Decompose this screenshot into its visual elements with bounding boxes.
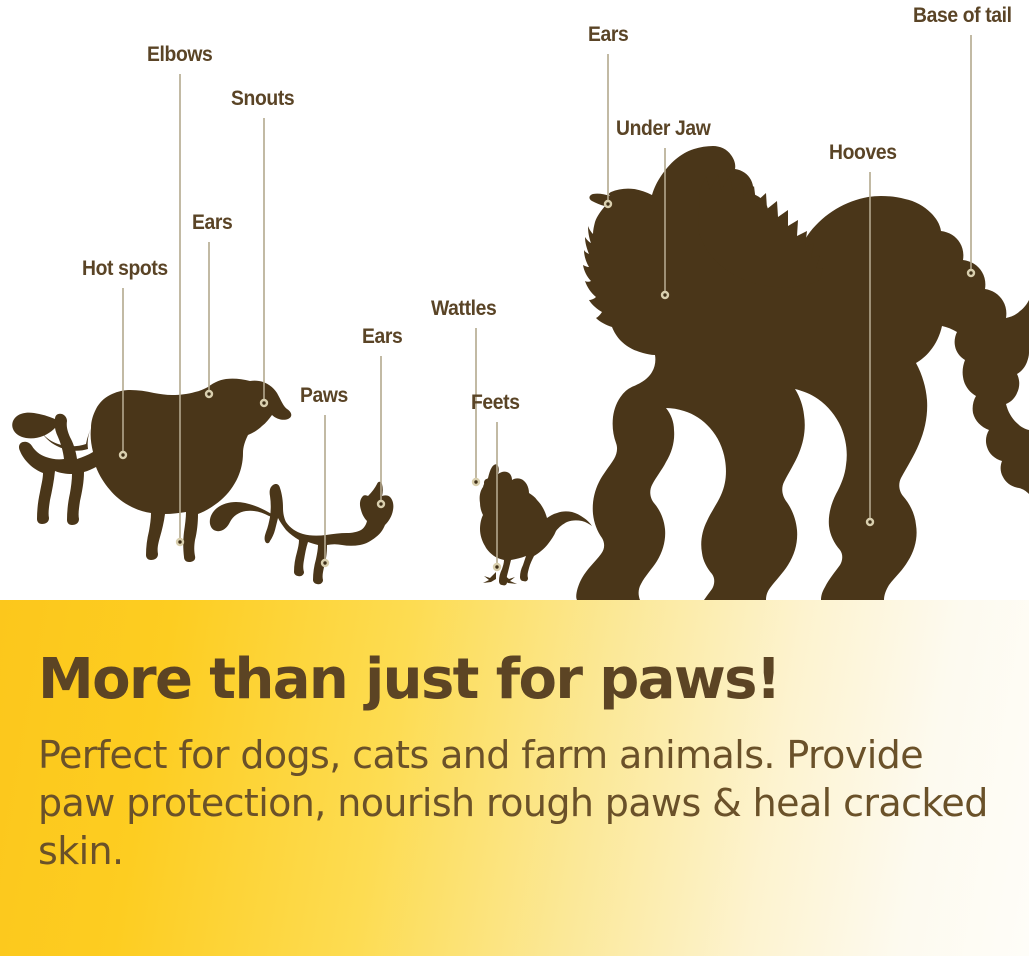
callout-label-horse-base-of-tail: Base of tail bbox=[913, 5, 1012, 26]
callout-label-cat-paws: Paws bbox=[300, 385, 348, 406]
callout-label-horse-ears: Ears bbox=[588, 24, 628, 45]
promo-panel: More than just for paws! Perfect for dog… bbox=[0, 600, 1029, 956]
marker-dot-dog-elbows bbox=[178, 540, 181, 543]
marker-dot-cat-ears bbox=[379, 502, 382, 505]
callout-label-horse-under-jaw: Under Jaw bbox=[616, 118, 710, 139]
marker-dot-cat-paws bbox=[323, 561, 326, 564]
marker-dot-chicken-wattles bbox=[474, 480, 477, 483]
callout-label-chicken-feets: Feets bbox=[471, 392, 520, 413]
marker-dot-horse-base-of-tail bbox=[969, 271, 972, 274]
infographic-page: Hot spotsElbowsEarsSnoutsPawsEarsWattles… bbox=[0, 0, 1029, 956]
callout-label-dog-snouts: Snouts bbox=[231, 88, 294, 109]
promo-body-text: Perfect for dogs, cats and farm animals.… bbox=[38, 732, 988, 876]
dog-silhouette bbox=[12, 379, 291, 562]
animal-diagram-panel: Hot spotsElbowsEarsSnoutsPawsEarsWattles… bbox=[0, 0, 1029, 600]
marker-dot-dog-snouts bbox=[262, 401, 265, 404]
callout-label-chicken-wattles: Wattles bbox=[431, 298, 496, 319]
marker-dot-dog-ears bbox=[207, 392, 210, 395]
cat-silhouette bbox=[210, 482, 394, 585]
marker-dot-horse-under-jaw bbox=[663, 293, 666, 296]
promo-heading: More than just for paws! bbox=[38, 652, 780, 708]
marker-dot-horse-ears bbox=[606, 202, 609, 205]
callout-label-horse-hooves: Hooves bbox=[829, 142, 897, 163]
callout-label-dog-ears: Ears bbox=[192, 212, 232, 233]
callout-label-dog-elbows: Elbows bbox=[147, 44, 212, 65]
marker-dot-chicken-feets bbox=[495, 565, 498, 568]
horse-silhouette bbox=[571, 146, 1029, 600]
marker-dot-horse-hooves bbox=[868, 520, 871, 523]
callout-label-cat-ears: Ears bbox=[362, 326, 402, 347]
marker-dot-dog-hot-spots bbox=[121, 453, 124, 456]
animal-silhouettes-svg bbox=[0, 0, 1029, 600]
callout-label-dog-hot-spots: Hot spots bbox=[82, 258, 168, 279]
